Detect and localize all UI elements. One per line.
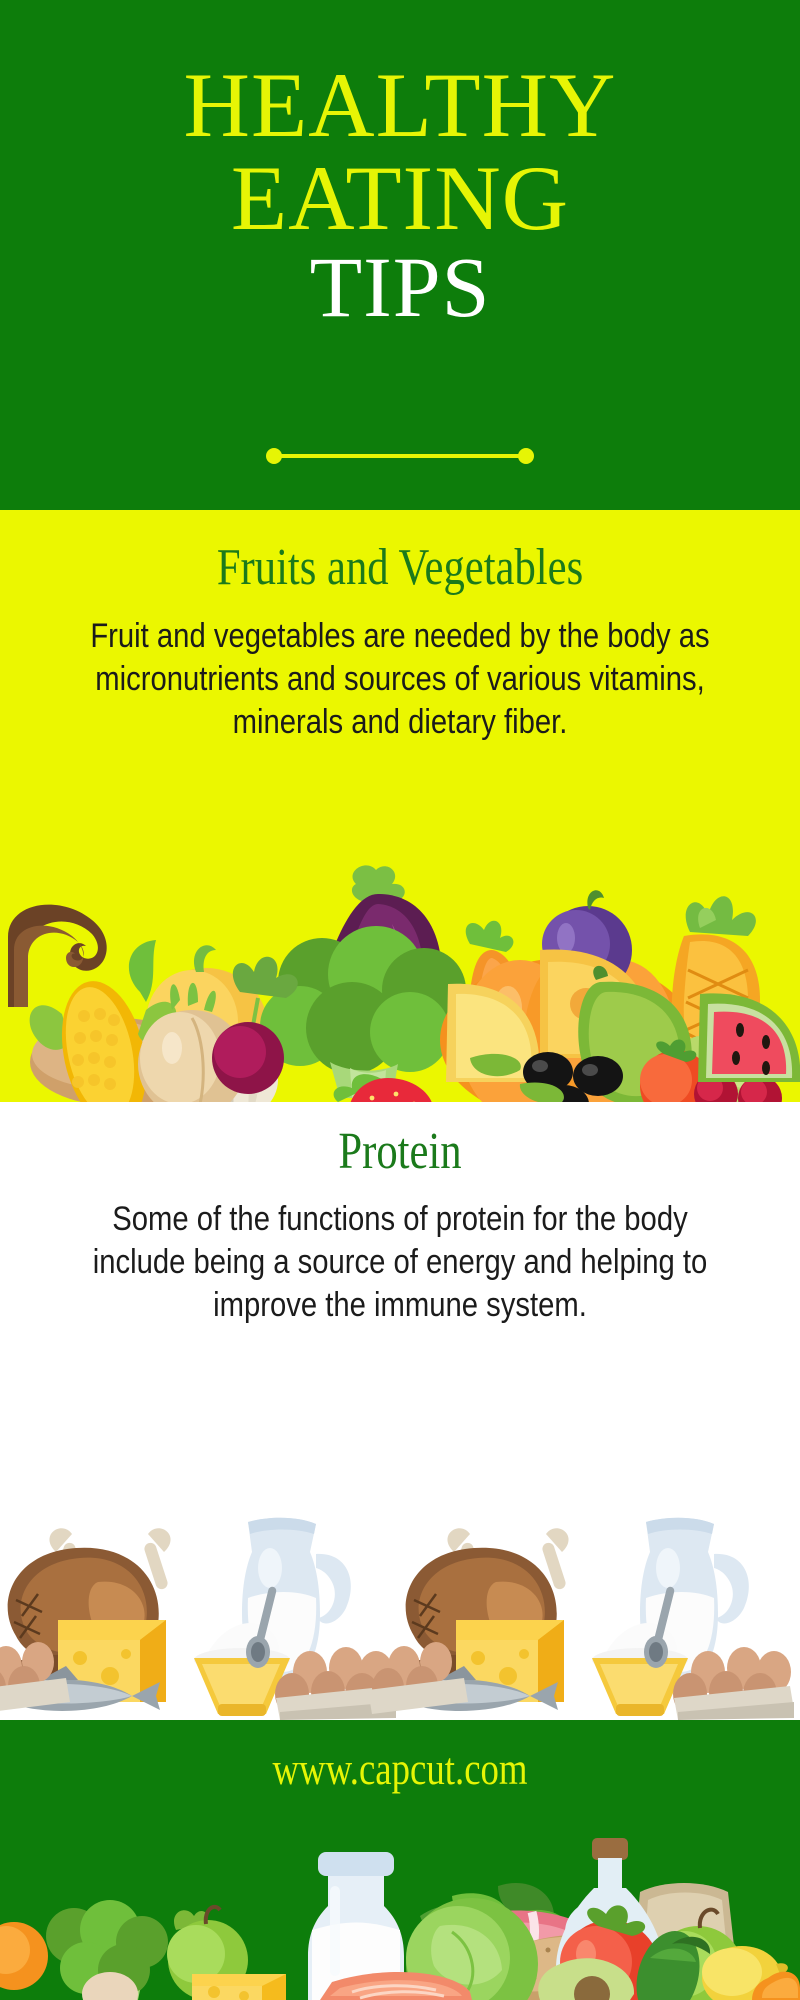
section-fruits-vegetables: Fruits and Vegetables Fruit and vegetabl… [0,510,800,1102]
website-url[interactable]: www.capcut.com [80,1742,720,1795]
watermelon-slice-icon [698,993,800,1082]
infographic-poster: HEALTHY EATING TIPS Fruits and Vegetable… [0,0,800,2000]
broccoli-icon [260,926,466,1098]
dot-line-dot-divider-icon [265,448,535,464]
title-line-tips: TIPS [0,247,800,329]
section-heading-protein: Protein [72,1122,728,1181]
header-banner: HEALTHY EATING TIPS [0,0,800,510]
section-body-protein: Some of the functions of protein for the… [82,1198,718,1326]
fruits-and-vegetables-illustration [0,832,800,1102]
title-line-healthy: HEALTHY [0,62,800,149]
title-line-eating: EATING [0,155,800,242]
protein-foods-illustration [0,1490,800,1720]
poster-title: HEALTHY EATING TIPS [0,62,800,328]
healthy-foods-illustration [0,1830,800,2000]
cheese-wedge-icon [192,1974,286,2000]
section-heading-fruits-vegetables: Fruits and Vegetables [72,538,728,597]
section-body-fruits-vegetables: Fruit and vegetables are needed by the b… [82,615,718,743]
footer-banner: www.capcut.com [0,1720,800,2000]
section-protein: Protein Some of the functions of protein… [0,1102,800,1720]
